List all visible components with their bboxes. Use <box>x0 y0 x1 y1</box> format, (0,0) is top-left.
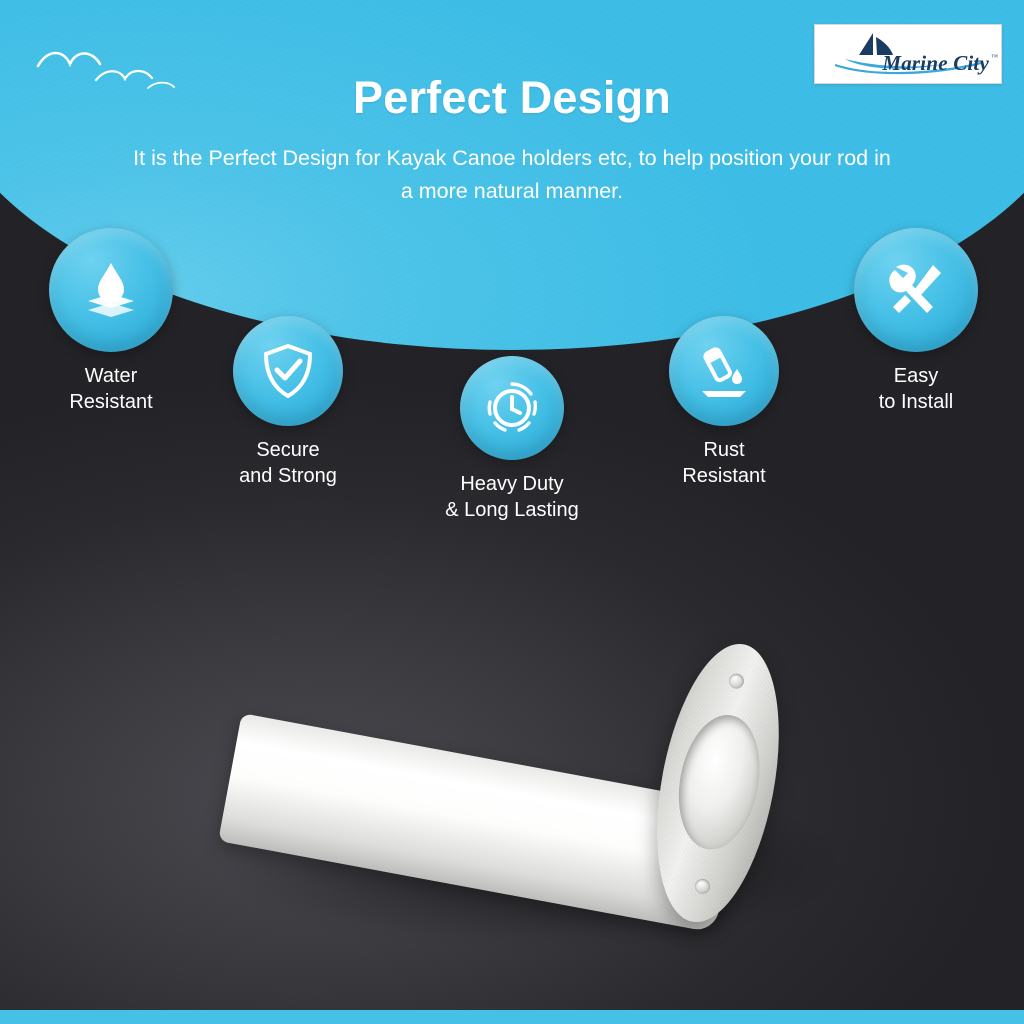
page-title: Perfect Design <box>0 72 1024 124</box>
feature-heavy-duty: Heavy Duty & Long Lasting <box>430 356 594 523</box>
feature-bubble <box>233 316 343 426</box>
bottom-accent-strip <box>0 1010 1024 1024</box>
rust-drop-icon <box>694 341 754 401</box>
feature-rust-resistant: Rust Resistant <box>648 316 800 489</box>
feature-water-resistant: Water Resistant <box>33 228 189 415</box>
shield-check-icon <box>259 342 317 400</box>
feature-label: Rust Resistant <box>648 437 800 489</box>
feature-bubble <box>49 228 173 352</box>
water-drop-on-layers-icon <box>78 257 144 323</box>
clock-durability-icon <box>484 380 540 436</box>
feature-bubble <box>460 356 564 460</box>
wrench-screwdriver-icon <box>883 257 949 323</box>
promo-graphic: Marine City ™ Perfect Design It is the P… <box>0 0 1024 1024</box>
feature-bubble <box>669 316 779 426</box>
feature-label: Easy to Install <box>838 363 994 415</box>
page-subtitle: It is the Perfect Design for Kayak Canoe… <box>130 142 894 208</box>
logo-trademark: ™ <box>991 53 998 61</box>
feature-bubble <box>854 228 978 352</box>
feature-label: Heavy Duty & Long Lasting <box>430 471 594 523</box>
feature-easy-to-install: Easy to Install <box>838 228 994 415</box>
feature-label: Secure and Strong <box>213 437 363 489</box>
feature-label: Water Resistant <box>33 363 189 415</box>
feature-secure-and-strong: Secure and Strong <box>213 316 363 489</box>
product-image <box>190 600 850 960</box>
